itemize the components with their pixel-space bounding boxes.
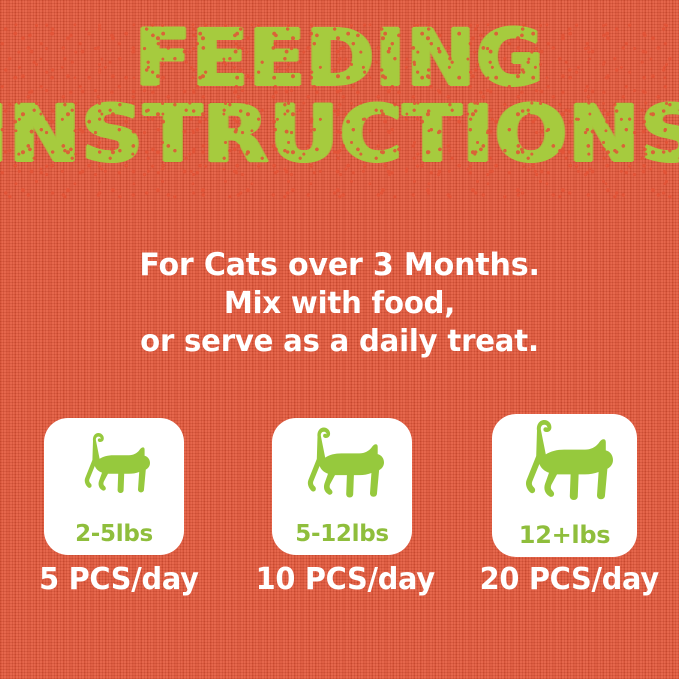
weight-card-medium: 5-12lbs [272, 418, 412, 555]
weight-label: 12+lbs [492, 521, 637, 549]
cat-icon [492, 416, 637, 520]
weight-card-large: 12+lbs [492, 414, 637, 557]
feeding-instructions-poster: FEEDING INSTRUCTIONS For Cats over 3 Mon… [0, 0, 679, 679]
dose-label-medium: 10 PCS/day [256, 562, 429, 597]
dose-label-large: 20 PCS/day [480, 562, 653, 597]
weight-card-small: 2-5lbs [44, 418, 184, 555]
title-line-feeding: FEEDING [0, 24, 679, 96]
cat-icon [272, 424, 412, 515]
poster-subtitle: For Cats over 3 Months. Mix with food, o… [0, 246, 679, 362]
dose-label-small: 5 PCS/day [39, 562, 189, 597]
title-line-instructions: INSTRUCTIONS [0, 100, 679, 172]
subtitle-line-3: or serve as a daily treat. [10, 323, 669, 361]
weight-card-group: 2-5lbs 5-12lbs 12+lbs [0, 418, 679, 568]
dose-label-group: 5 PCS/day 10 PCS/day 20 PCS/day [0, 562, 679, 608]
subtitle-line-1: For Cats over 3 Months. [10, 246, 669, 285]
weight-label: 5-12lbs [272, 521, 412, 547]
cat-icon [44, 430, 184, 508]
poster-title: FEEDING INSTRUCTIONS [0, 24, 679, 172]
weight-label: 2-5lbs [44, 521, 184, 547]
subtitle-line-2: Mix with food, [10, 285, 669, 323]
